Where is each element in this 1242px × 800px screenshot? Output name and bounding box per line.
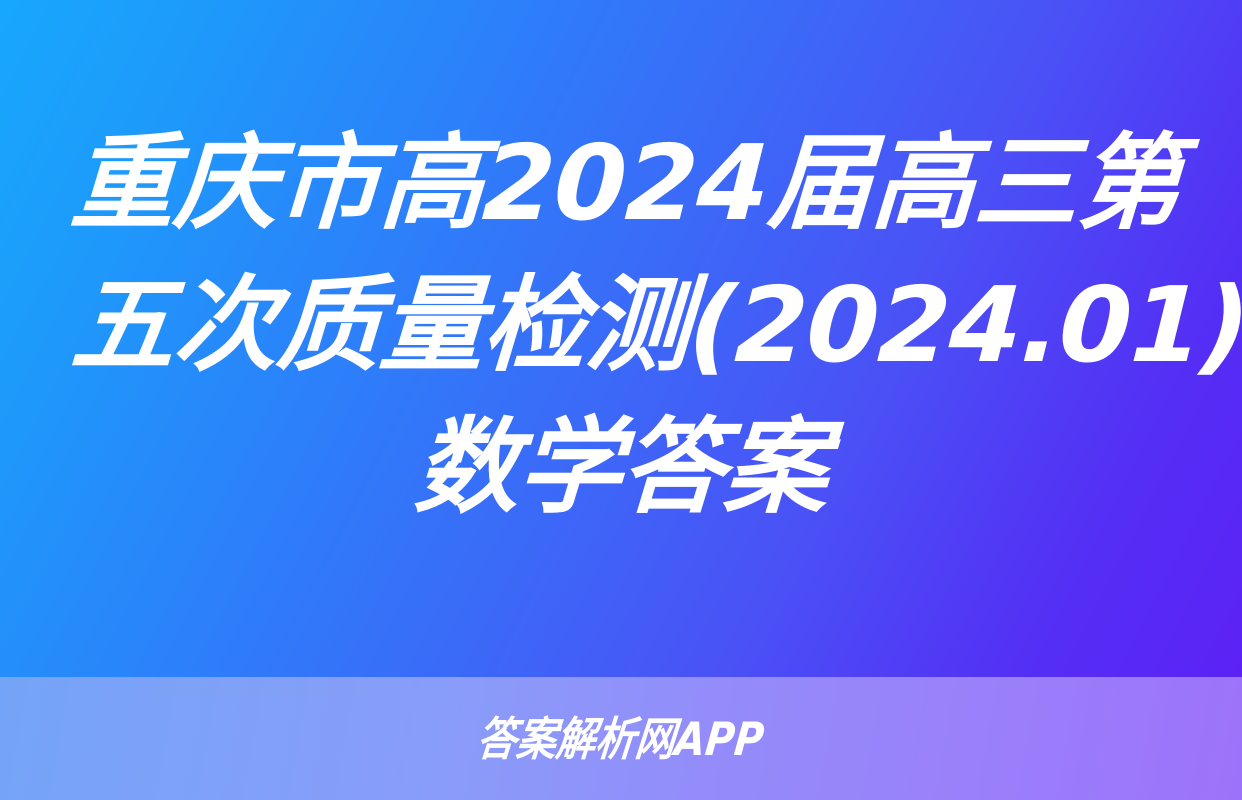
watermark-container: 答案解析网APP <box>0 677 1242 800</box>
poster-canvas: 重庆市高2024届高三第 五次质量检测(2024.01) 数学答案 答案解析网A… <box>0 0 1242 800</box>
watermark-brand-text: 答案解析网APP <box>475 713 767 765</box>
title-line-1: 重庆市高2024届高三第 <box>67 112 1174 254</box>
title-line-3: 数学答案 <box>67 396 1174 538</box>
title-block: 重庆市高2024届高三第 五次质量检测(2024.01) 数学答案 <box>0 0 1242 677</box>
title-line-2: 五次质量检测(2024.01) <box>67 254 1174 396</box>
